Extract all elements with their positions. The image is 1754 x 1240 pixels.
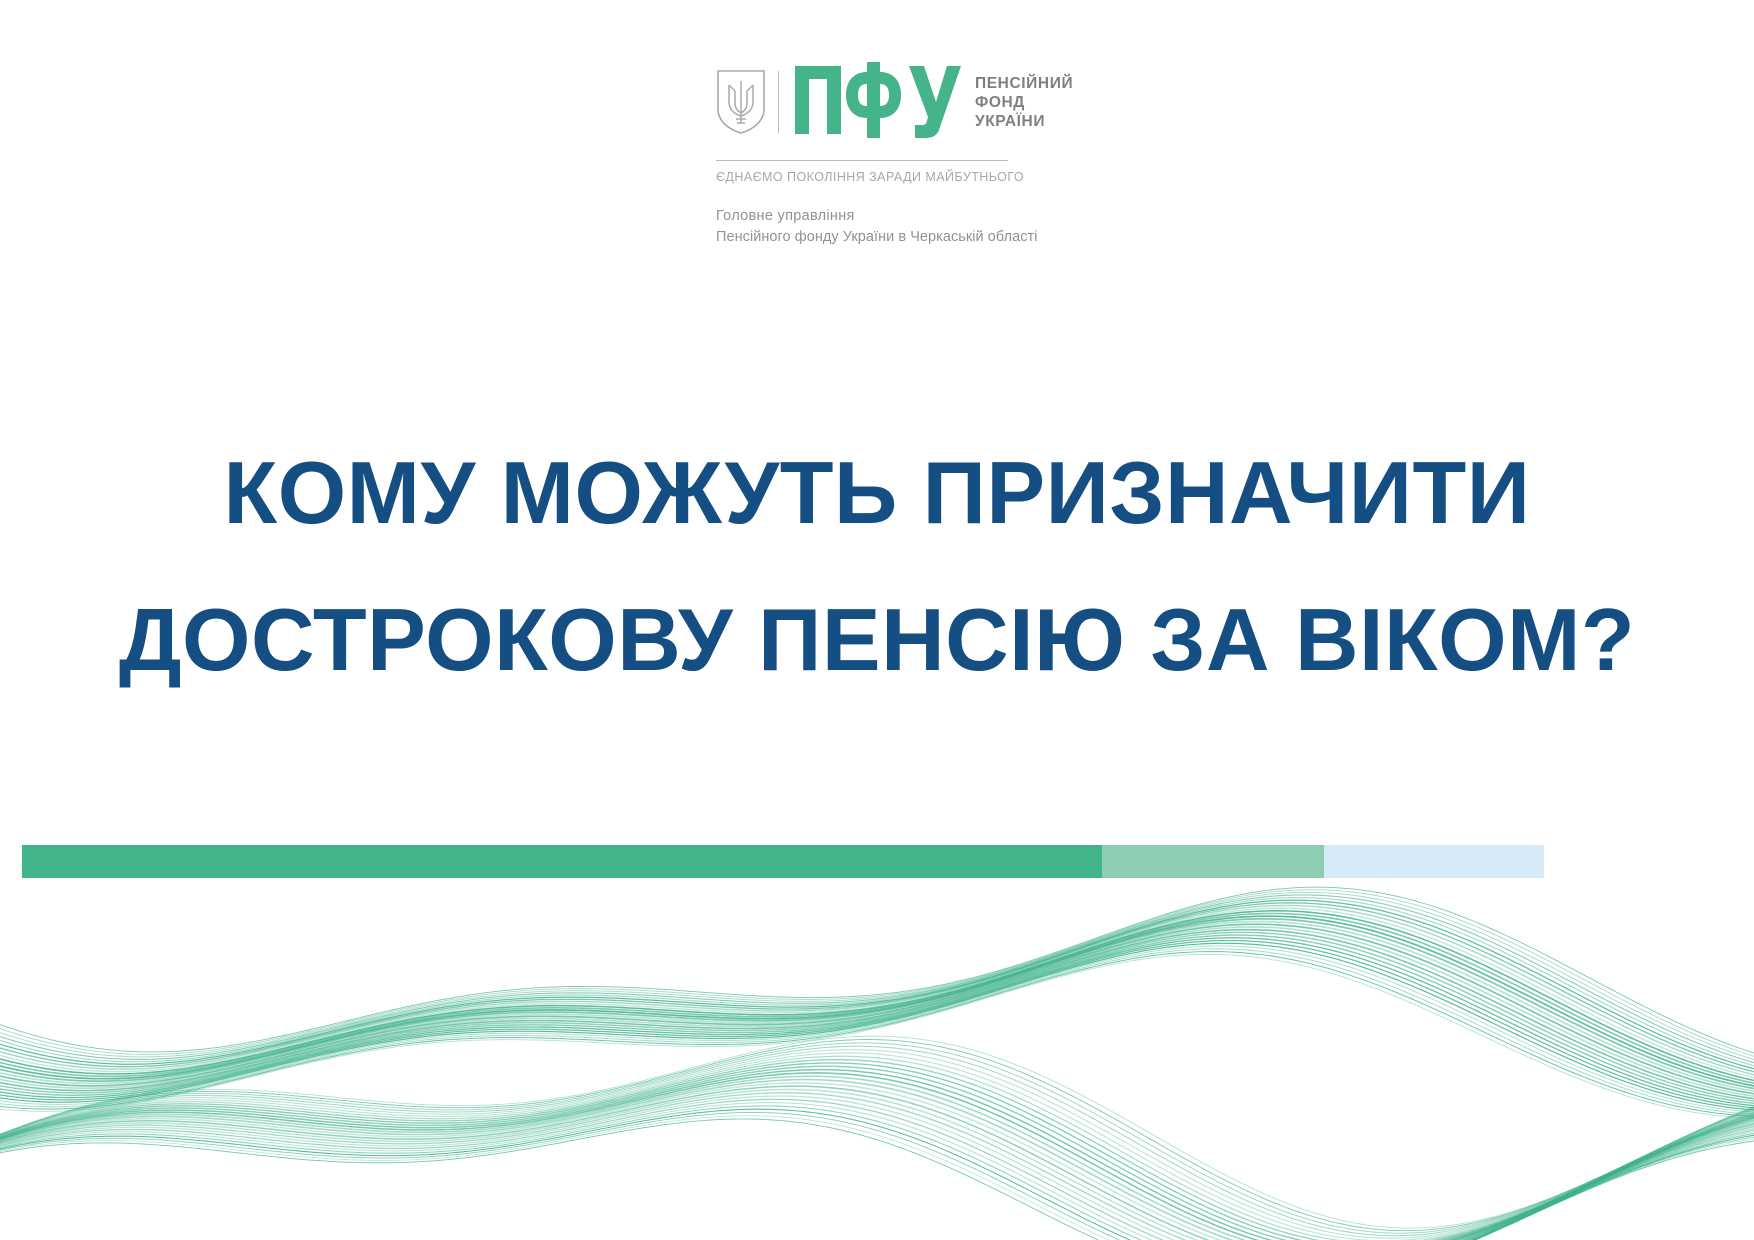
slide-title-line-2: ДОСТРОКОВУ ПЕНСІЮ ЗА ВІКОМ? [0, 566, 1754, 713]
accent-bar-segment-green-light [1102, 845, 1324, 878]
accent-color-bar [22, 845, 1544, 878]
department-name: Головне управління Пенсійного фонду Укра… [716, 206, 1056, 248]
pfu-wordmark-text: ПЕНСІЙНИЙ ФОНД УКРАЇНИ [975, 74, 1073, 131]
wordmark-line-1: ПЕНСІЙНИЙ [975, 74, 1073, 93]
slide-title: КОМУ МОЖУТЬ ПРИЗНАЧИТИ ДОСТРОКОВУ ПЕНСІЮ… [0, 419, 1754, 713]
presentation-slide: ПЕНСІЙНИЙ ФОНД УКРАЇНИ ЄДНАЄМО ПОКОЛІННЯ… [0, 0, 1754, 1240]
logo-slogan: ЄДНАЄМО ПОКОЛІННЯ ЗАРАДИ МАЙБУТНЬОГО [716, 170, 1016, 184]
pfu-abbr-mark [793, 62, 961, 143]
logo-lockup: ПЕНСІЙНИЙ ФОНД УКРАЇНИ [716, 62, 1056, 142]
department-line-1: Головне управління [716, 206, 1056, 227]
slide-title-line-1: КОМУ МОЖУТЬ ПРИЗНАЧИТИ [0, 419, 1754, 566]
department-line-2: Пенсійного фонду України в Черкаській об… [716, 227, 1056, 248]
pfu-logo-block: ПЕНСІЙНИЙ ФОНД УКРАЇНИ ЄДНАЄМО ПОКОЛІННЯ… [716, 62, 1056, 248]
accent-bar-segment-green [22, 845, 1102, 878]
logo-divider [778, 71, 779, 133]
slogan-divider-rule [716, 160, 1008, 161]
wordmark-line-3: УКРАЇНИ [975, 112, 1073, 131]
wordmark-line-2: ФОНД [975, 93, 1073, 112]
green-wave-lines-decoration [0, 878, 1754, 1240]
accent-bar-segment-blue-light [1324, 845, 1544, 878]
ukraine-trident-emblem-icon [716, 69, 766, 135]
